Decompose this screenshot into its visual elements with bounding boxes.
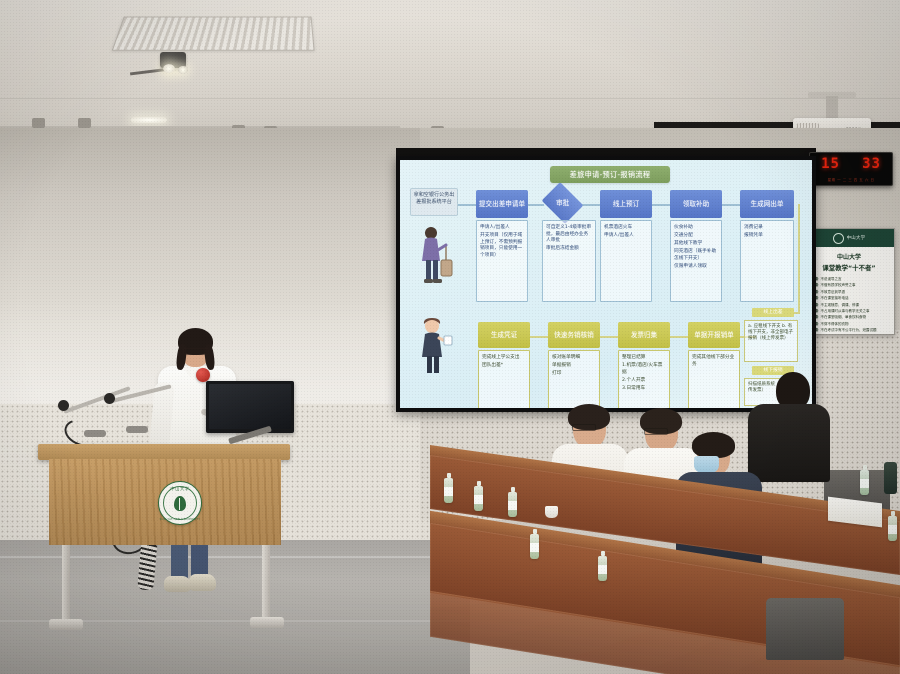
poster-rule-row: 第十条不未授课而类去课 — [808, 334, 890, 335]
floor — [0, 540, 470, 674]
flow-body-3: 机票酒店火车申请人/出差人 — [600, 220, 652, 302]
connector-wrap-vertical — [798, 204, 800, 314]
flow-header-5[interactable]: 生成网出单 — [740, 190, 794, 218]
attendee-4-body — [748, 404, 830, 482]
classroom-rules-poster: 中山大学 中山大学 课堂教学“十不者” 第一条不说误导之言第二条不做有损学校声誉… — [803, 228, 895, 335]
traveler-person-icon — [414, 224, 454, 286]
rail-mount — [32, 118, 45, 128]
attendee-3-hair — [692, 432, 735, 458]
face-mask-icon — [694, 456, 719, 473]
podium-leg-left — [62, 545, 70, 623]
recessed-strip-light — [131, 117, 167, 123]
chair — [766, 598, 844, 660]
ceiling-seam — [0, 98, 900, 99]
clock-minutes: 33 — [862, 156, 881, 172]
water-bottle — [474, 486, 483, 511]
emblem-leaf-icon — [174, 496, 186, 511]
connector — [600, 336, 618, 338]
connector — [670, 336, 688, 338]
projection-screen: 差旅申请-预订-报销流程 拿和空银行公务出差报批系统平台 提交出差申 — [396, 156, 816, 412]
poster-header-text: 中山大学 — [847, 235, 866, 241]
floor-seam — [0, 556, 470, 558]
flow-body-9: 完成其他线下部分业务 — [688, 350, 740, 408]
mic-capsule-left — [58, 400, 69, 411]
poster-title-line2: 课堂教学“十不者” — [804, 263, 894, 272]
flow-header-1[interactable]: 提交出差申请单 — [476, 190, 528, 218]
slide-content: 差旅申请-预订-报销流程 拿和空银行公务出差报批系统平台 提交出差申 — [400, 160, 812, 408]
water-bottle — [860, 470, 869, 495]
flow-body-6: 完成线上学公支出团队出差* — [478, 350, 530, 408]
poster-title-line1: 中山大学 — [804, 252, 894, 261]
flow-body-7: 核对账单明细单据报销打印 — [548, 350, 600, 408]
presenter-glasses-icon — [183, 348, 209, 355]
spotlight-lamp — [163, 64, 175, 73]
emblem-text-chinese: 中山大学 — [159, 486, 201, 492]
water-bottle — [888, 516, 897, 541]
flow-header-9[interactable]: 单据开报销单 — [688, 322, 740, 348]
flow-body-2: 可自定义1-4级审批审批，最后由经办业务人审批审批后冻结金额 — [542, 220, 596, 302]
flow-body-4: 伙食补助交通分配 其他线下教学同充酒店（既手补助怎线下开支） 仅限申请人领取 — [670, 220, 722, 302]
connector — [652, 204, 670, 206]
university-logo-icon — [833, 233, 844, 244]
slide-start-node: 拿和空银行公务出差报批系统平台 — [410, 188, 458, 216]
attendee-1-glasses-icon — [572, 424, 596, 431]
slide-title: 差旅申请-预订-报销流程 — [550, 166, 670, 183]
flow-header-6[interactable]: 生成凭证 — [478, 322, 530, 348]
emblem-text-english: SUN YAT-SEN UNIVERSITY — [159, 517, 201, 521]
flow-header-2-approval[interactable]: 审批 — [542, 182, 584, 224]
office-person-icon — [416, 316, 454, 380]
water-bottle — [508, 492, 517, 517]
presenter-shoe-right — [189, 574, 216, 591]
water-bottle — [444, 478, 453, 503]
connector — [528, 204, 544, 206]
led-wall-clock: 15 33 星期 一 二 三 四 五 六 日 — [809, 152, 893, 186]
monitor-screen — [209, 384, 291, 429]
podium-foot-right — [250, 617, 284, 628]
rail-mount — [78, 118, 91, 128]
flow-header-3[interactable]: 线上预订 — [600, 190, 652, 218]
podium-leg-right — [262, 545, 270, 623]
flow-body-1: 申请人/出差人开支项目（仅用于域上预订，不需预判报销项目，只能使用一个项目） — [476, 220, 528, 302]
connector — [458, 204, 476, 206]
poster-rule-list: 第一条不说误导之言第二条不做有损学校声誉之事第三条不故意迟到早退第四条不在课堂接… — [804, 276, 894, 335]
poster-header-bar: 中山大学 — [804, 229, 894, 247]
flow-body-5: 消费记录报销凭单 — [740, 220, 794, 302]
mic-base — [126, 426, 148, 433]
thermos-flask — [884, 462, 897, 494]
podium-university-emblem: 中山大学 SUN YAT-SEN UNIVERSITY — [158, 481, 202, 525]
flow-body-8: 整理已结算1.机票/酒店/火车票据 2.个人开票3.日常用车 — [618, 350, 670, 408]
presenter-shoe-left — [164, 576, 191, 592]
water-bottle — [530, 534, 539, 559]
poster-rule-text: 不未授课而类去课 — [821, 334, 849, 335]
callout-body-online: a. 应租线下开支 b. 有线下开支，非全部电子报销（线上传发票） — [744, 320, 798, 362]
spotlight-lamp-secondary — [178, 66, 188, 74]
water-bottle — [598, 556, 607, 581]
connector — [722, 204, 740, 206]
connector — [530, 336, 548, 338]
clock-weekday-strip: 星期 一 二 三 四 五 六 日 — [810, 178, 892, 183]
attendee-2-glasses-icon — [644, 428, 668, 435]
callout-tag-online: 线上出差 — [752, 308, 794, 317]
handheld-microphone-icon — [196, 368, 210, 382]
paper-cup — [545, 506, 558, 518]
flow-header-7[interactable]: 快速务销核销 — [548, 322, 600, 348]
ceiling-air-vent — [112, 17, 315, 51]
projector-mount-pole — [826, 96, 838, 120]
flow-header-4[interactable]: 领取补助 — [670, 190, 722, 218]
flow-header-8[interactable]: 发票归集 — [618, 322, 670, 348]
podium-foot-left — [49, 619, 83, 630]
podium-top-surface — [38, 444, 290, 460]
connector — [582, 204, 600, 206]
mic-capsule-center — [104, 393, 115, 404]
clock-hours: 15 — [821, 156, 840, 172]
lecture-hall-photo: EPSON 15 33 星期 一 二 三 四 五 六 日 中山大学 中山大学 课… — [0, 0, 900, 674]
